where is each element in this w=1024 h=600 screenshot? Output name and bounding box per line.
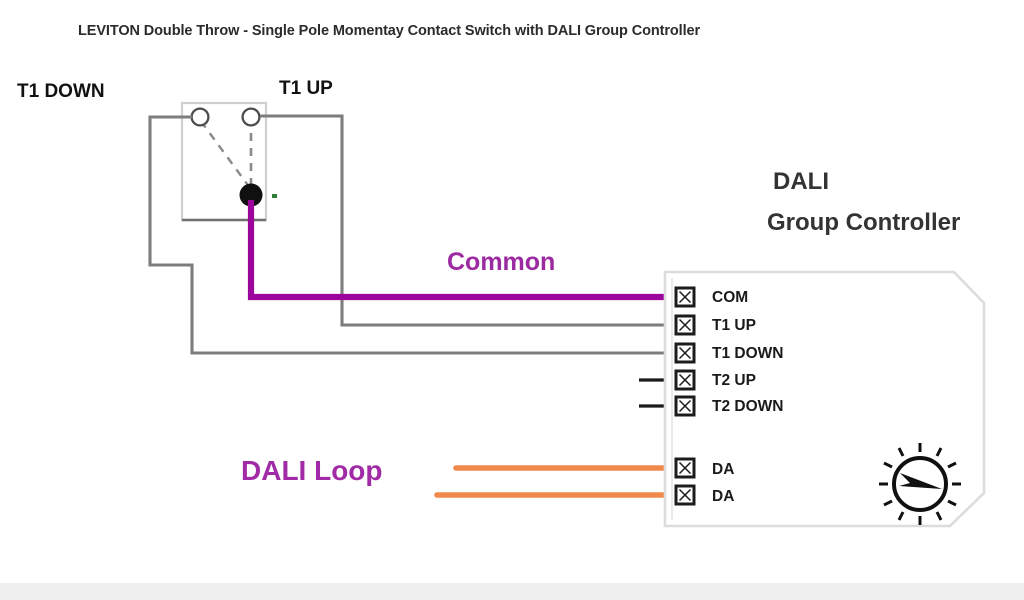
- terminal-label-da-2: DA: [712, 489, 734, 505]
- switch-label-t1-down: T1 DOWN: [17, 82, 105, 101]
- switch-pole-marker: [272, 194, 277, 198]
- switch-label-t1-up: T1 UP: [279, 79, 333, 98]
- switch-contact-t1-up: [243, 109, 260, 126]
- terminal-label-t1-down: T1 DOWN: [712, 346, 783, 362]
- terminal-t2-down[interactable]: [676, 397, 694, 415]
- controller-title-line-1: DALI: [773, 170, 829, 194]
- terminal-label-t2-down: T2 DOWN: [712, 399, 783, 415]
- switch-assembly: [182, 103, 277, 220]
- terminal-label-t1-up: T1 UP: [712, 318, 756, 334]
- diagram-title: LEVITON Double Throw - Single Pole Momen…: [78, 24, 700, 39]
- terminal-label-t2-up: T2 UP: [712, 373, 756, 389]
- terminal-t1-down[interactable]: [676, 344, 694, 362]
- annotation-common: Common: [447, 250, 555, 275]
- terminal-label-com: COM: [712, 290, 748, 306]
- terminal-t2-up[interactable]: [676, 371, 694, 389]
- diagram-graphics-layer: [0, 0, 1024, 600]
- wire-t1-up: [260, 116, 682, 325]
- switch-contact-t1-down: [192, 109, 209, 126]
- wiring-diagram-canvas: LEVITON Double Throw - Single Pole Momen…: [0, 0, 1024, 600]
- bottom-edge-band: [0, 583, 1024, 600]
- annotation-dali-loop: DALI Loop: [241, 457, 383, 485]
- controller-title-line-2: Group Controller: [767, 211, 960, 235]
- terminal-blocks: [676, 288, 694, 504]
- terminal-da-2[interactable]: [676, 486, 694, 504]
- terminal-com[interactable]: [676, 288, 694, 306]
- terminal-label-da-1: DA: [712, 462, 734, 478]
- terminal-t1-up[interactable]: [676, 316, 694, 334]
- terminal-da-1[interactable]: [676, 459, 694, 477]
